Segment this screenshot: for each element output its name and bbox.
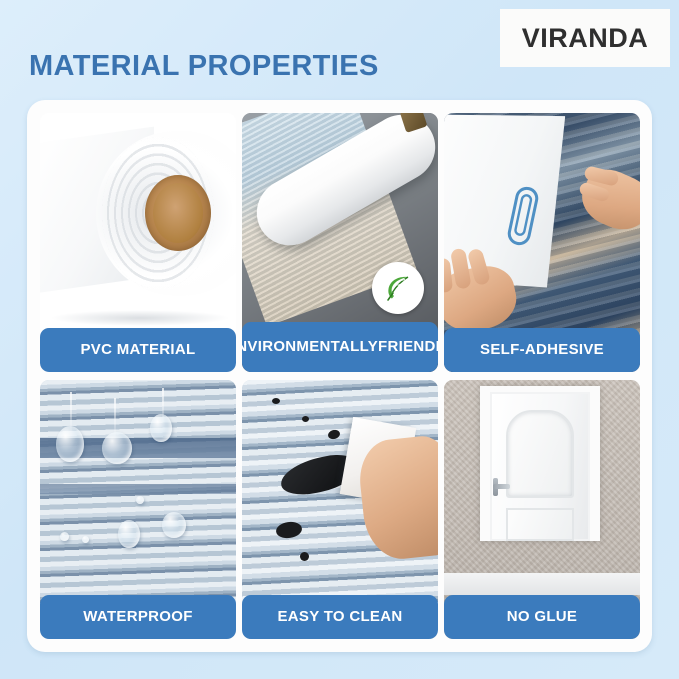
stain bbox=[272, 398, 280, 404]
brand-name: VIRANDA bbox=[522, 23, 649, 54]
stain bbox=[300, 552, 309, 561]
feature-label-environmentally-friendly: ENVIRONMENTALLY FRIENDLY bbox=[242, 322, 438, 372]
door-handle bbox=[493, 484, 510, 489]
baseboard bbox=[444, 573, 640, 595]
feature-tile-no-glue[interactable]: NO GLUE bbox=[444, 380, 640, 639]
feature-label-pvc-material: PVC MATERIAL bbox=[40, 328, 236, 372]
water-droplet bbox=[60, 532, 69, 541]
label-line-1: ENVIRONMENTALLY bbox=[242, 339, 378, 355]
water-droplet bbox=[82, 536, 89, 543]
feature-label-self-adhesive: SELF-ADHESIVE bbox=[444, 328, 640, 372]
feature-tile-pvc-material[interactable]: PVC MATERIAL bbox=[40, 113, 236, 372]
water-droplet bbox=[102, 432, 132, 464]
wood-band bbox=[40, 484, 236, 494]
water-droplet bbox=[56, 426, 84, 462]
feature-tile-easy-to-clean[interactable]: EASY TO CLEAN bbox=[242, 380, 438, 639]
feature-label-easy-to-clean: EASY TO CLEAN bbox=[242, 595, 438, 639]
water-droplet bbox=[136, 496, 144, 504]
label-line-2: FRIENDLY bbox=[378, 339, 438, 355]
door-panel-bottom bbox=[506, 508, 574, 541]
stain bbox=[302, 416, 309, 422]
eco-roll-edge bbox=[400, 113, 428, 133]
roll-core-inner bbox=[153, 183, 203, 243]
feature-grid: PVC MATERIAL bbox=[40, 113, 640, 639]
water-droplet bbox=[162, 512, 186, 538]
infographic-page: VIRANDA MATERIAL PROPERTIES PVC MATERIAL bbox=[0, 0, 679, 679]
water-droplet bbox=[118, 520, 140, 548]
water-droplet bbox=[150, 414, 172, 442]
page-title: MATERIAL PROPERTIES bbox=[29, 50, 379, 83]
brand-logo: VIRANDA bbox=[500, 9, 670, 67]
feature-label-waterproof: WATERPROOF bbox=[40, 595, 236, 639]
leaf-icon bbox=[372, 262, 424, 314]
feature-tile-environmentally-friendly[interactable]: ENVIRONMENTALLY FRIENDLY bbox=[242, 113, 438, 372]
feature-tile-self-adhesive[interactable]: SELF-ADHESIVE bbox=[444, 113, 640, 372]
roll-shadow bbox=[50, 310, 230, 326]
feature-tile-waterproof[interactable]: WATERPROOF bbox=[40, 380, 236, 639]
feature-card: PVC MATERIAL bbox=[27, 100, 652, 652]
door-panel-top bbox=[506, 410, 574, 498]
feature-label-no-glue: NO GLUE bbox=[444, 595, 640, 639]
